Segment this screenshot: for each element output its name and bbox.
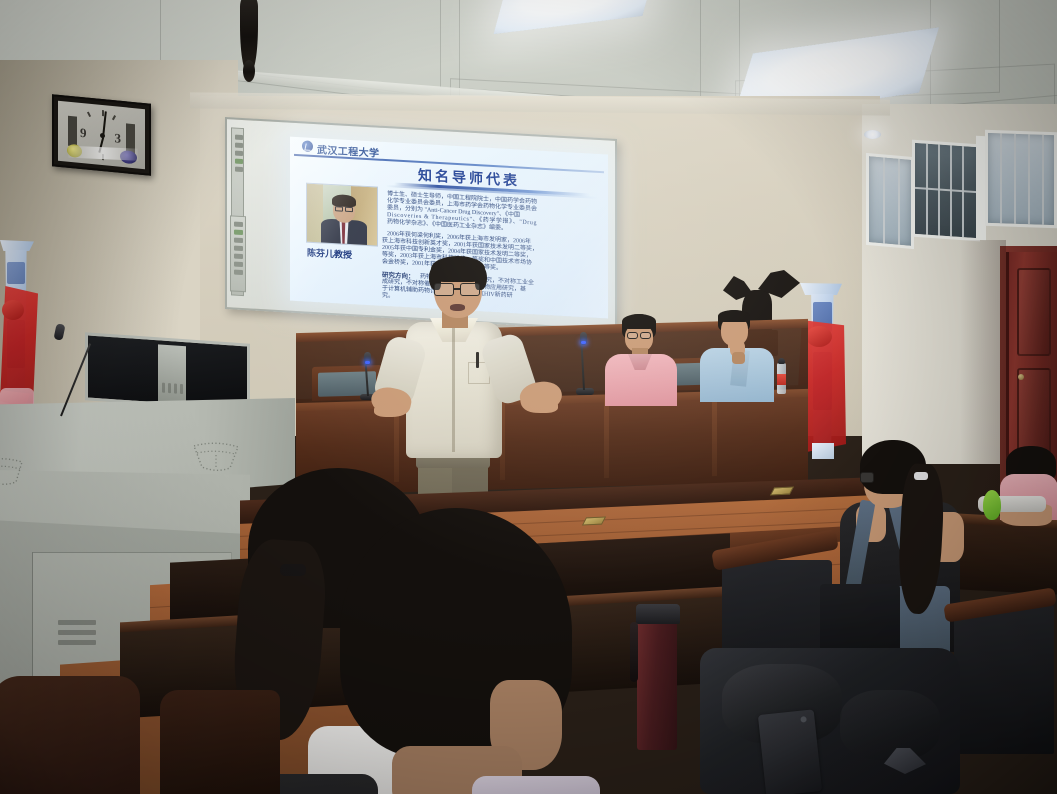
clock-hour-9: 9 [80, 125, 87, 142]
auditorium-seat-right[interactable] [954, 604, 1054, 754]
professor-photo [306, 183, 378, 247]
green-water-bottle [983, 490, 1001, 520]
thermos-strap [630, 622, 638, 682]
vase-left-mouth [0, 240, 34, 251]
clock-hour-3: 3 [115, 130, 122, 147]
window-left-pane [866, 153, 914, 249]
projector-mount-tip [243, 60, 255, 82]
hair-tie [914, 472, 928, 480]
university-logo-icon [302, 140, 313, 152]
wall-clock: 9 3 [52, 94, 151, 176]
smartphone[interactable] [758, 709, 822, 794]
hair-tie [280, 564, 306, 576]
thermos-bottle [637, 615, 677, 750]
student-collar [472, 776, 600, 794]
lecture-hall-photo: 9 3 [0, 0, 1057, 794]
door-knob[interactable] [1018, 374, 1024, 380]
shirt-pocket-pen [476, 352, 479, 368]
thermos-cap [636, 604, 680, 624]
whiteboard: 武汉工程大学 知名导师代表 [225, 117, 617, 331]
window-center-pane [912, 140, 980, 242]
clock-hour-hand [98, 137, 104, 153]
clock-badge-yellow [67, 144, 82, 158]
podium-emblem-right [190, 440, 242, 474]
board-button-strip[interactable] [230, 215, 246, 292]
vase-right-mouth [800, 283, 842, 295]
podium-emblem-left [0, 456, 24, 488]
vase-right-foot [812, 443, 834, 459]
foreground-seat-left [0, 676, 140, 794]
professor-name-label: 陈芬儿教授 [307, 246, 352, 262]
foreground-seat-left-2 [160, 690, 280, 794]
speaker-glasses [434, 283, 454, 296]
recessed-downlight [864, 130, 881, 139]
window-right-pane [985, 130, 1057, 229]
